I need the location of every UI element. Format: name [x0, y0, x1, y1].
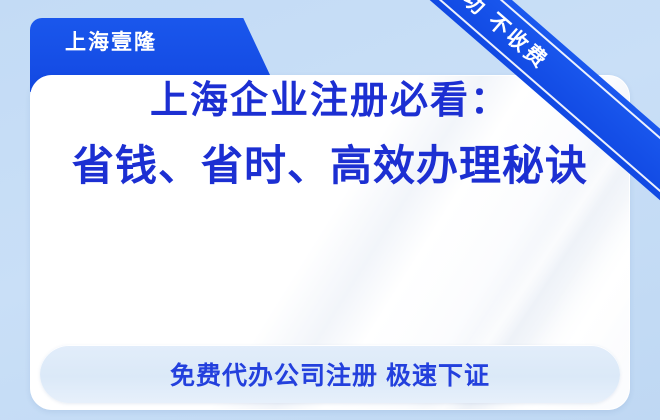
- cta-pill-label: 免费代办公司注册 极速下证: [170, 356, 490, 392]
- headline-line-2: 省钱、省时、高效办理秘诀: [0, 138, 660, 195]
- corner-ribbon-label: 不成功 不收费: [423, 0, 552, 73]
- brand-tab-label: 上海壹隆: [65, 32, 157, 53]
- cta-pill[interactable]: 免费代办公司注册 极速下证: [40, 345, 620, 403]
- promo-poster: 上海壹隆 上海企业注册必看： 省钱、省时、高效办理秘诀 免费代办公司注册 极速下…: [0, 0, 660, 420]
